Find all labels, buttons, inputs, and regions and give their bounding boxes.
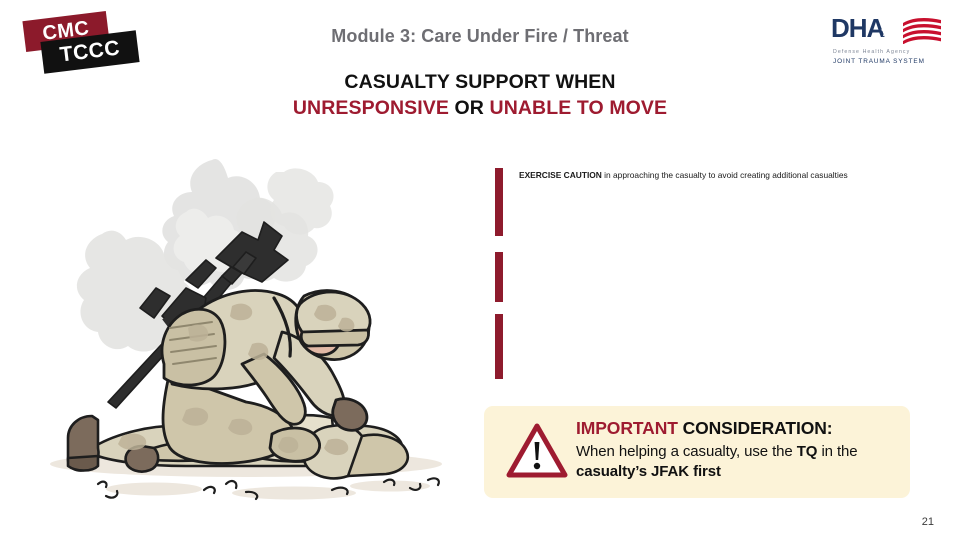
- callout-heading-rest: CONSIDERATION:: [678, 418, 833, 438]
- warning-triangle-icon: [506, 422, 568, 480]
- bullet-1-emphasis: EXERCISE CAUTION: [519, 170, 602, 180]
- dha-logo: DHA Defense Health Agency JOINT TRAUMA S…: [831, 16, 943, 72]
- bullet-bar-3: [495, 314, 503, 379]
- dha-subtitle-jts: JOINT TRAUMA SYSTEM: [833, 58, 925, 65]
- dha-wordmark: DHA: [831, 13, 884, 44]
- dha-star-icon: [880, 25, 893, 38]
- slide-title-unable-to-move: UNABLE TO MOVE: [490, 97, 668, 119]
- slide-canvas: CMC TCCC Module 3: Care Under Fire / Thr…: [0, 0, 960, 540]
- bullet-text-1: EXERCISE CAUTION in approaching the casu…: [519, 169, 899, 181]
- callout-text-c: in the: [817, 443, 857, 460]
- bullet-bar-2: [495, 252, 503, 302]
- bullet-bar-1: [495, 168, 503, 236]
- slide-title-or: OR: [455, 97, 484, 119]
- bullet-1-text: in approaching the casualty to avoid cre…: [602, 170, 848, 180]
- dha-flag-icon: [901, 18, 943, 44]
- callout-body: IMPORTANT CONSIDERATION: When helping a …: [576, 417, 898, 482]
- important-consideration-callout: IMPORTANT CONSIDERATION: When helping a …: [484, 406, 910, 498]
- callout-text-tq: TQ: [797, 443, 818, 460]
- dha-subtitle-agency: Defense Health Agency: [833, 49, 910, 55]
- callout-text: When helping a casualty, use the TQ in t…: [576, 442, 898, 482]
- callout-text-jfak: casualty’s JFAK first: [576, 463, 721, 480]
- slide-title-unresponsive: UNRESPONSIVE: [293, 97, 449, 119]
- callout-heading-important: IMPORTANT: [576, 418, 678, 438]
- dha-mark: DHA: [831, 16, 943, 50]
- casualty-illustration: [36, 148, 476, 514]
- callout-heading: IMPORTANT CONSIDERATION:: [576, 417, 898, 440]
- page-number: 21: [922, 516, 934, 528]
- slide-title-line1: CASUALTY SUPPORT WHEN: [344, 71, 615, 93]
- callout-text-a: When helping a casualty, use the: [576, 443, 797, 460]
- page-title: CASUALTY SUPPORT WHEN UNRESPONSIVE OR UN…: [160, 70, 800, 121]
- module-title: Module 3: Care Under Fire / Threat: [0, 26, 960, 47]
